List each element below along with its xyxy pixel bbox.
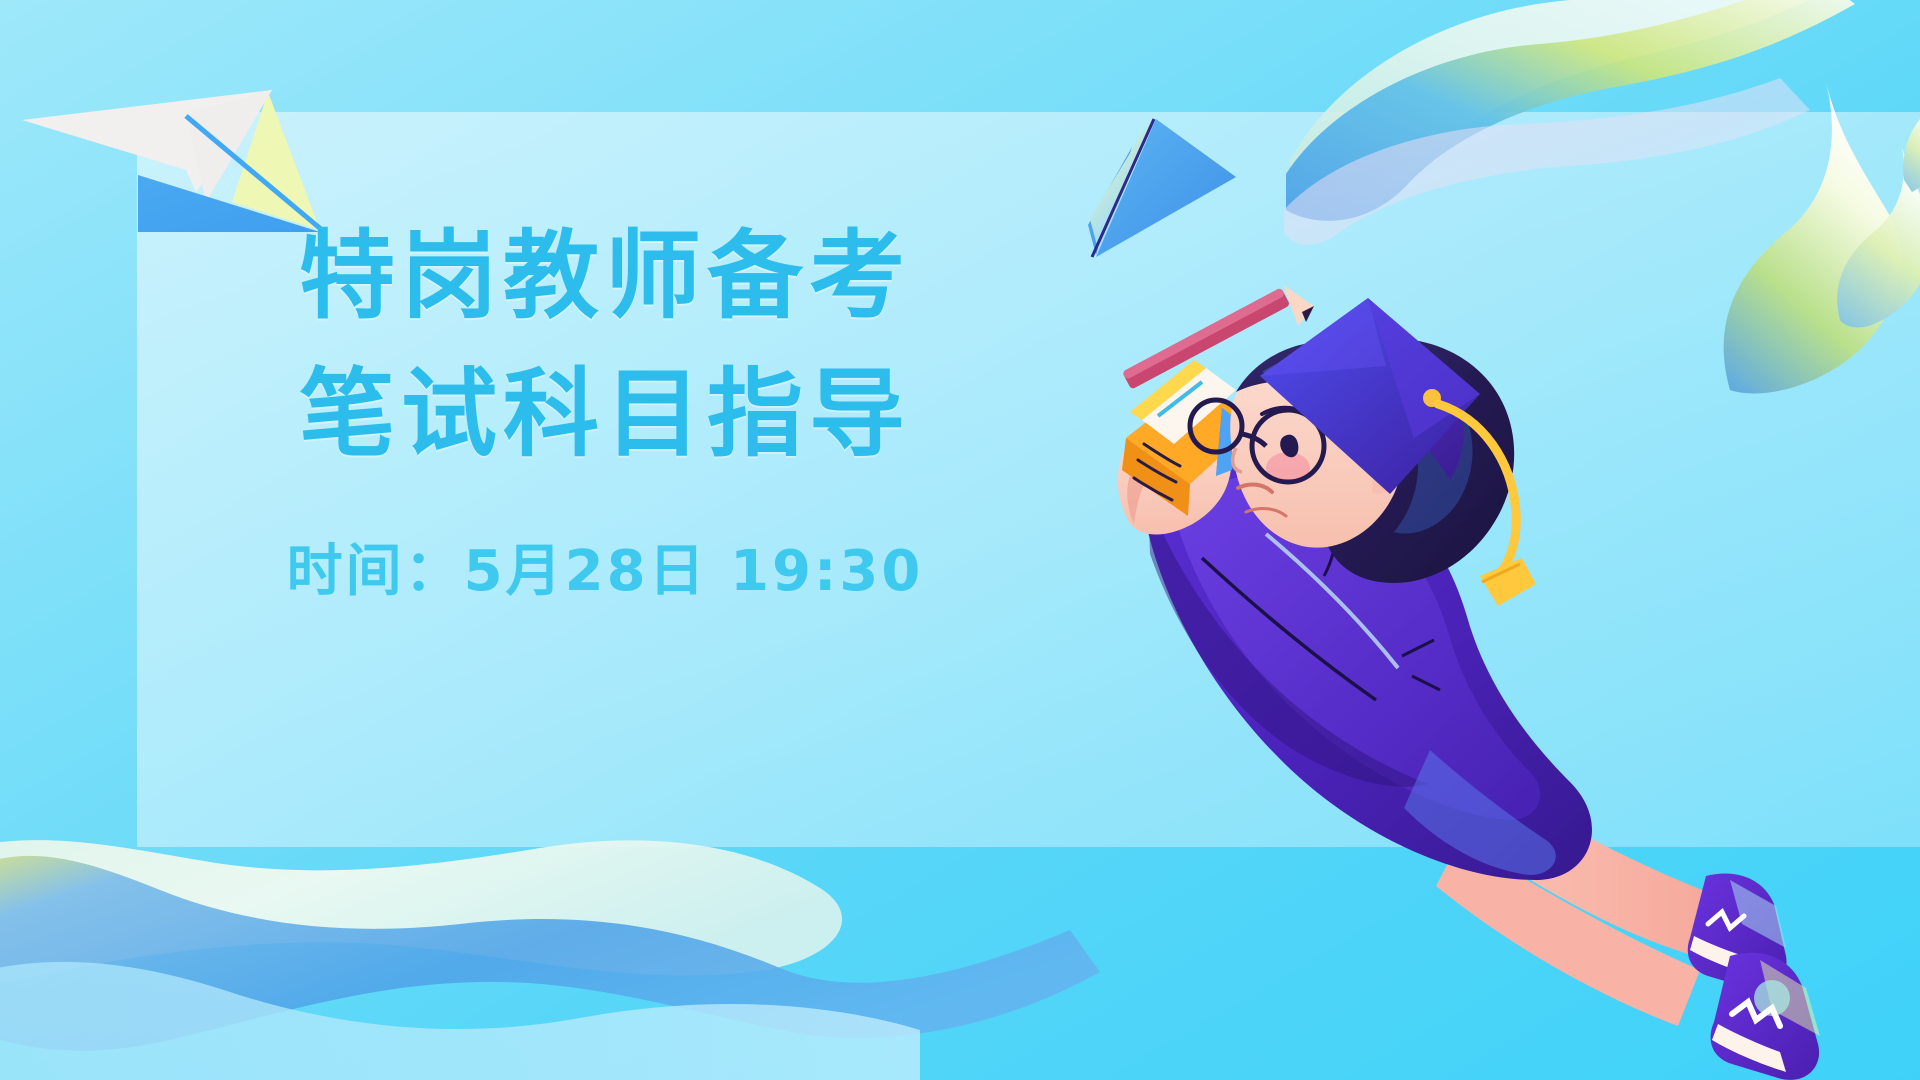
tassel — [1438, 404, 1536, 606]
hair-front — [1236, 341, 1418, 418]
event-time-text: 时间：5月28日 19:30 — [0, 538, 1210, 606]
hair-back — [1304, 338, 1514, 583]
ribbon-bottom-left — [0, 600, 1140, 1080]
collar — [1200, 406, 1280, 460]
sneakers — [1688, 874, 1820, 1080]
ribbon-top-right — [1310, 0, 1920, 320]
face — [1230, 358, 1403, 547]
headline-block: 特岗教师备考 笔试科目指导 时间：5月28日 19:30 — [0, 212, 1210, 606]
graduation-gown — [1144, 443, 1592, 880]
headline-line-2: 笔试科目指导 — [0, 350, 1210, 478]
paper-airplane-icon-large — [10, 30, 340, 240]
sash — [1206, 424, 1432, 534]
legs — [1436, 790, 1730, 1026]
graduation-cap — [1260, 298, 1480, 494]
eyeglasses — [1190, 400, 1358, 482]
headline-line-1: 特岗教师备考 — [0, 212, 1210, 340]
promo-banner: 特岗教师备考 笔试科目指导 时间：5月28日 19:30 — [0, 0, 1920, 1080]
ribbon-right-edge — [1690, 20, 1920, 400]
